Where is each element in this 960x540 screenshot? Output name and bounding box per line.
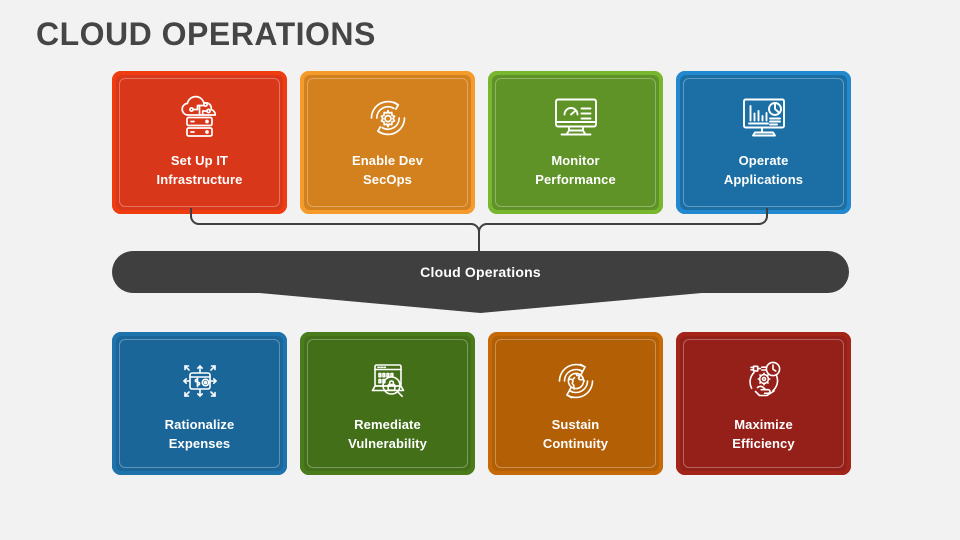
down-arrow-connector [248,292,713,319]
bottom-card-row: Rationalize Expenses Remediat [112,332,851,475]
slide-canvas: CLOUD OPERATIONS [0,0,960,540]
page-title: CLOUD OPERATIONS [36,16,376,53]
card-label: Maximize Efficiency [732,415,794,453]
card-label: Sustain Continuity [543,415,608,453]
card-sustain-continuity[interactable]: Sustain Continuity [488,332,663,475]
gear-clock-hand-icon [736,356,792,406]
card-set-up-it-infrastructure[interactable]: Set Up IT Infrastructure [112,71,287,214]
card-enable-dev-secops[interactable]: Enable Dev SecOps [300,71,475,214]
laptop-lock-search-icon [360,356,416,406]
card-label: Rationalize Expenses [165,415,235,453]
top-card-row: Set Up IT Infrastructure Enable Dev SecO… [112,71,851,214]
card-maximize-efficiency[interactable]: Maximize Efficiency [676,332,851,475]
cloud-server-icon [172,93,228,143]
monitor-chart-icon [736,93,792,143]
card-monitor-performance[interactable]: Monitor Performance [488,71,663,214]
card-label: Enable Dev SecOps [352,151,423,189]
wallet-arrows-icon [172,356,228,406]
monitor-gauge-icon [548,93,604,143]
card-label: Operate Applications [724,151,803,189]
card-label: Monitor Performance [535,151,616,189]
card-remediate-vulnerability[interactable]: Remediate Vulnerability [300,332,475,475]
card-operate-applications[interactable]: Operate Applications [676,71,851,214]
card-label: Remediate Vulnerability [348,415,427,453]
center-bar-cloud-operations[interactable]: Cloud Operations [112,251,849,293]
card-label: Set Up IT Infrastructure [157,151,243,189]
card-rationalize-expenses[interactable]: Rationalize Expenses [112,332,287,475]
globe-refresh-icon [548,356,604,406]
center-bar-label: Cloud Operations [420,264,541,280]
gear-refresh-icon [360,93,416,143]
